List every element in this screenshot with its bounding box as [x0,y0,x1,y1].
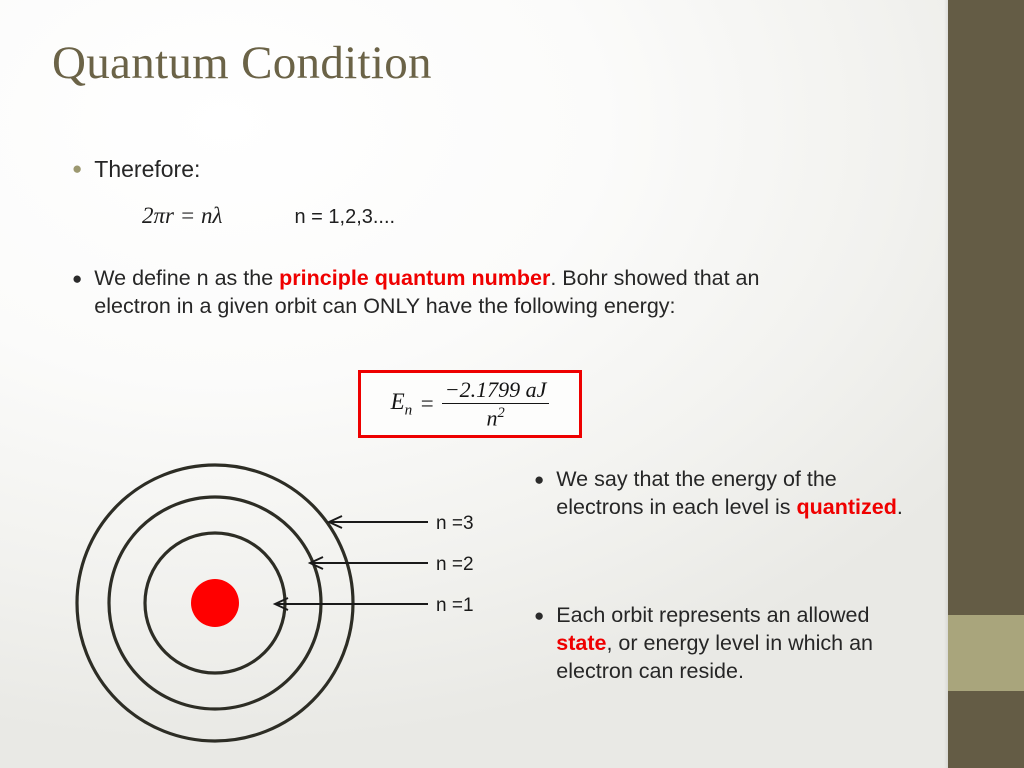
bullet-therefore-label: Therefore: [94,155,200,185]
bullet-state: ● Each orbit represents an allowed state… [534,602,934,686]
slide-canvas: Quantum Condition ● Therefore: 2πr = nλ … [0,0,1024,768]
shell-label-n2: n =2 [436,554,474,575]
bullet-therefore: ● Therefore: [72,155,200,185]
bohr-atom-diagram: n =3 n =2 n =1 [58,462,528,752]
energy-equation: En = −2.1799 aJ n2 [391,379,550,430]
energy-equals-sign: = [419,391,435,417]
sidebar-bar-dark-top [948,0,1024,615]
slide-title: Quantum Condition [52,36,432,90]
bullet-quantized-lead: We say that the energy of the electrons … [556,467,836,519]
bullet-dot-icon: ● [534,607,556,624]
energy-denominator-base: n [486,405,497,430]
decorative-sidebar [948,0,1024,768]
inline-equation-row: 2πr = nλ n = 1,2,3.... [142,203,395,229]
sidebar-bar-light [948,615,1024,691]
energy-fraction: −2.1799 aJ n2 [442,379,550,430]
shell-label-n3: n =3 [436,513,474,534]
energy-subscript-n: n [405,401,413,418]
bullet-state-text: Each orbit represents an allowed state, … [556,602,916,686]
equation-n-values: n = 1,2,3.... [294,206,395,229]
energy-numerator: −2.1799 aJ [442,379,550,403]
equation-2pir-nlambda: 2πr = nλ [142,203,222,229]
bullet-define-n-lead: We define n as the [94,266,279,290]
energy-equation-lhs: En [391,389,413,420]
bullet-dot-icon: ● [534,471,556,488]
bullet-state-highlight: state [556,631,606,655]
energy-symbol-E: E [391,389,405,414]
bullet-dot-icon: ● [72,160,94,177]
shell-label-n1: n =1 [436,595,474,616]
bullet-define-n-text: We define n as the principle quantum num… [94,265,834,321]
energy-denominator: n2 [486,404,504,429]
bullet-quantized-text: We say that the energy of the electrons … [556,466,908,522]
energy-equation-box: En = −2.1799 aJ n2 [358,370,582,438]
bullet-define-n: ● We define n as the principle quantum n… [72,265,872,321]
energy-denominator-exponent: 2 [497,405,504,421]
bohr-atom-svg: n =3 n =2 n =1 [58,462,528,752]
bullet-quantized-tail: . [897,495,903,519]
nucleus-icon [191,579,239,627]
bullet-state-lead: Each orbit represents an allowed [556,603,869,627]
bullet-quantized-highlight: quantized [797,495,897,519]
bullet-define-n-highlight: principle quantum number [279,266,550,290]
bullet-quantized: ● We say that the energy of the electron… [534,466,934,522]
bullet-dot-icon: ● [72,270,94,287]
sidebar-bar-dark-bottom [948,691,1024,768]
